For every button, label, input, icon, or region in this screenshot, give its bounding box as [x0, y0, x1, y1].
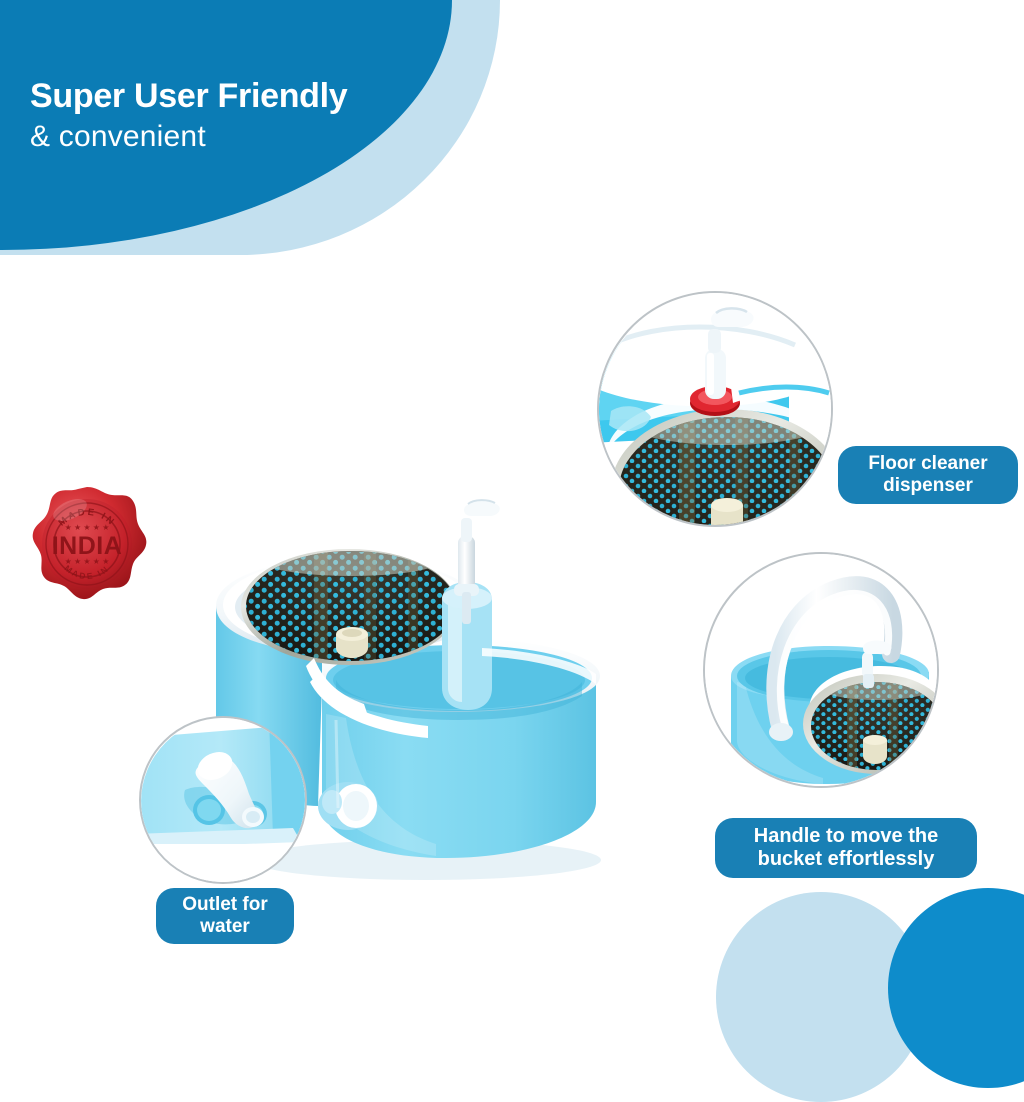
- svg-text:★ ★ ★ ★ ★: ★ ★ ★ ★ ★: [65, 523, 110, 532]
- callout-label-handle: Handle to move the bucket effortlessly: [715, 818, 977, 878]
- made-in-india-seal: MADE IN MADE IN ★ ★ ★ ★ ★ ★ ★ ★ ★ ★ INDI…: [26, 484, 148, 606]
- outlet-closeup-inset: [139, 716, 307, 884]
- corner-circle-dark: [888, 888, 1024, 1088]
- handle-closeup-inset: [703, 552, 939, 788]
- headline: Super User Friendly & convenient: [30, 78, 347, 155]
- callout-label-dispenser: Floor cleaner dispenser: [838, 446, 1018, 504]
- dispenser-closeup-inset: [597, 291, 833, 527]
- page-title: Super User Friendly: [30, 78, 347, 115]
- page-subtitle: & convenient: [30, 118, 347, 156]
- callout-label-outlet: Outlet for water: [156, 888, 294, 944]
- svg-text:INDIA: INDIA: [52, 532, 123, 560]
